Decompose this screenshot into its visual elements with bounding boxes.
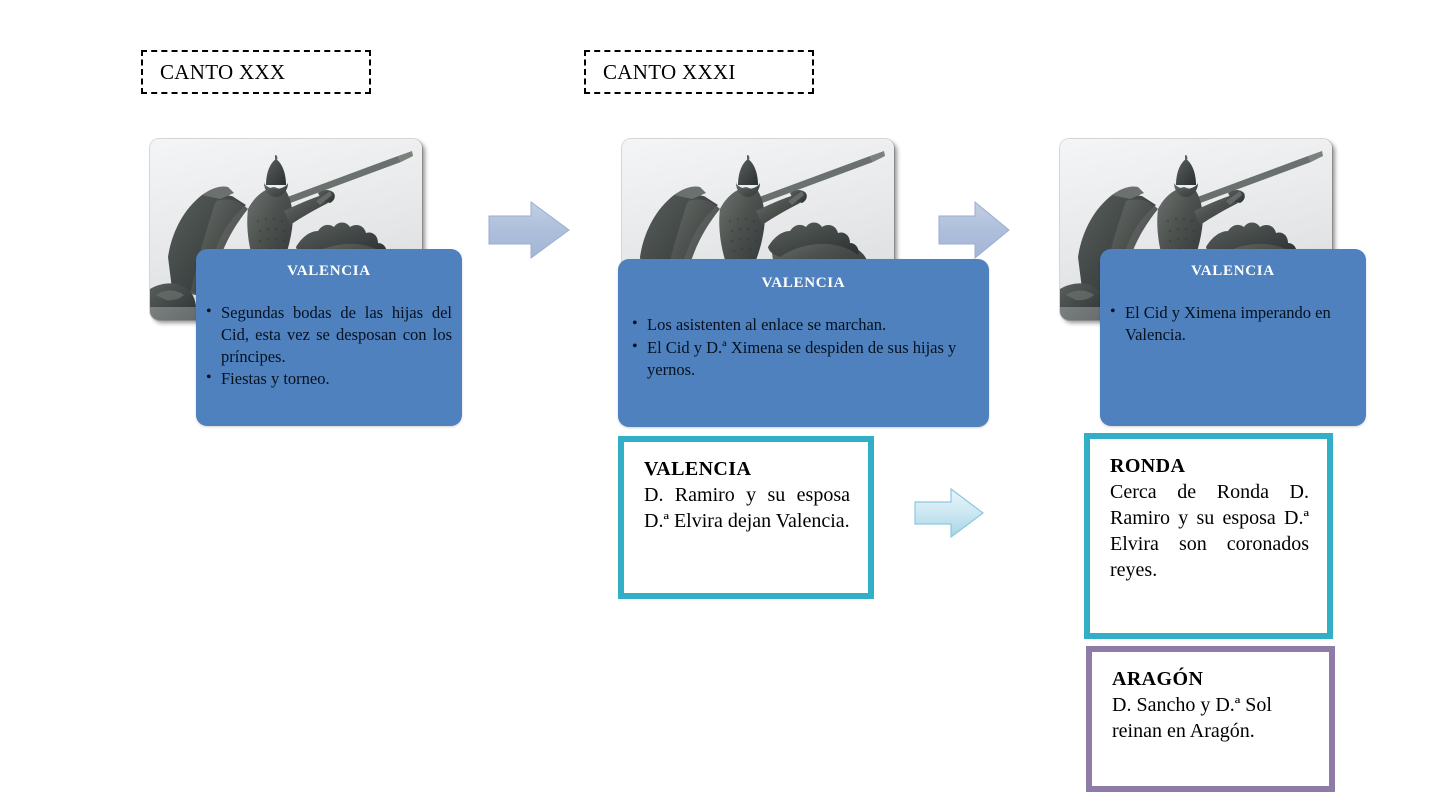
outcome-card-ronda-title: RONDA <box>1110 455 1309 478</box>
outcome-card-valencia-inner: VALENCIA D. Ramiro y su esposa D.ª Elvir… <box>629 447 863 588</box>
arrow-valencia-to-ronda <box>913 487 985 539</box>
outcome-card-valencia: VALENCIA D. Ramiro y su esposa D.ª Elvir… <box>618 436 874 599</box>
canto-header-xxx: CANTO XXX <box>141 50 371 94</box>
valencia-callout-1: VALENCIA Segundas bodas de las hijas del… <box>196 249 462 426</box>
outcome-card-aragon-inner: ARAGÓN D. Sancho y D.ª Sol reinan en Ara… <box>1097 657 1324 781</box>
outcome-card-valencia-body: D. Ramiro y su esposa D.ª Elvira dejan V… <box>644 482 850 534</box>
valencia-callout-2: VALENCIA Los asistenten al enlace se mar… <box>618 259 989 427</box>
list-item: Segundas bodas de las hijas del Cid, est… <box>204 302 452 367</box>
outcome-card-ronda-inner: RONDA Cerca de Ronda D. Ramiro y su espo… <box>1095 444 1322 628</box>
list-item: El Cid y Ximena imperando en Valencia. <box>1108 302 1356 346</box>
list-item: El Cid y D.ª Ximena se despiden de sus h… <box>630 337 977 381</box>
valencia-callout-3-title: VALENCIA <box>1100 263 1366 280</box>
list-item: Fiestas y torneo. <box>204 368 452 390</box>
canto-header-xxxi-label: CANTO XXXI <box>586 60 736 85</box>
canto-header-xxx-label: CANTO XXX <box>143 60 285 85</box>
arrow-xxxi-to-final <box>937 200 1011 260</box>
valencia-callout-1-title: VALENCIA <box>196 263 462 280</box>
right-arrow-icon <box>487 200 571 260</box>
arrow-canto-xxx-to-xxxi <box>487 200 571 260</box>
diagram-canvas: CANTO XXX CANTO XXXI <box>0 0 1445 807</box>
outcome-card-aragon-body: D. Sancho y D.ª Sol reinan en Aragón. <box>1112 692 1311 744</box>
right-arrow-icon <box>913 487 985 539</box>
valencia-callout-1-list: Segundas bodas de las hijas del Cid, est… <box>204 302 452 390</box>
valencia-callout-3: VALENCIA El Cid y Ximena imperando en Va… <box>1100 249 1366 426</box>
valencia-callout-2-title: VALENCIA <box>618 275 989 292</box>
outcome-card-valencia-title: VALENCIA <box>644 458 850 481</box>
valencia-callout-2-list: Los asistenten al enlace se marchan. El … <box>630 314 977 380</box>
outcome-card-ronda-body: Cerca de Ronda D. Ramiro y su esposa D.ª… <box>1110 479 1309 583</box>
list-item: Los asistenten al enlace se marchan. <box>630 314 977 336</box>
outcome-card-ronda: RONDA Cerca de Ronda D. Ramiro y su espo… <box>1084 433 1333 639</box>
outcome-card-aragon: ARAGÓN D. Sancho y D.ª Sol reinan en Ara… <box>1086 646 1335 792</box>
outcome-card-aragon-title: ARAGÓN <box>1112 668 1311 691</box>
right-arrow-icon <box>937 200 1011 260</box>
canto-header-xxxi: CANTO XXXI <box>584 50 814 94</box>
valencia-callout-3-list: El Cid y Ximena imperando en Valencia. <box>1108 302 1356 346</box>
